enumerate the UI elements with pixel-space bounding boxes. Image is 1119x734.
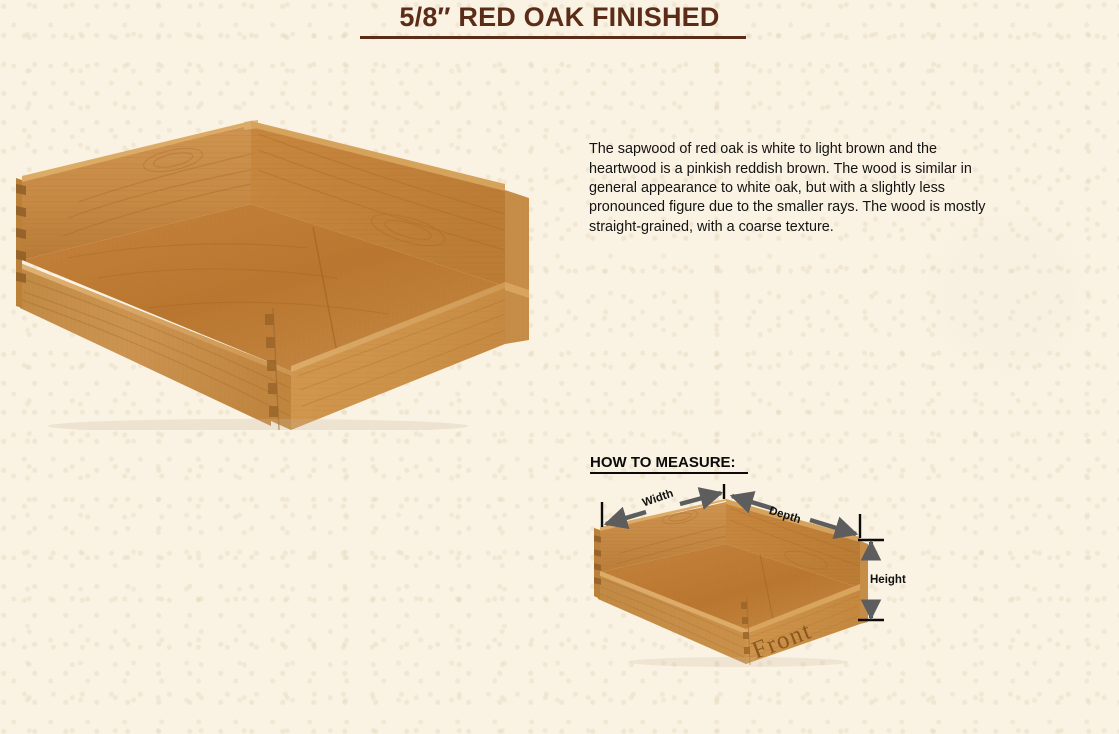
measurement-drawer-illustration: Front bbox=[588, 484, 908, 674]
measurement-diagram: Front bbox=[588, 484, 908, 674]
height-label: Height bbox=[870, 574, 906, 586]
product-drawer-image bbox=[8, 118, 532, 430]
how-to-measure-heading: HOW TO MEASURE: bbox=[590, 454, 736, 471]
how-to-measure-underline bbox=[590, 472, 748, 474]
page-title-underline bbox=[360, 36, 746, 39]
drawer-box-illustration bbox=[8, 118, 532, 430]
page-title: 5/8″ RED OAK FINISHED bbox=[0, 2, 1119, 33]
left-panel-edge bbox=[16, 178, 22, 308]
wood-description-text: The sapwood of red oak is white to light… bbox=[589, 140, 989, 236]
